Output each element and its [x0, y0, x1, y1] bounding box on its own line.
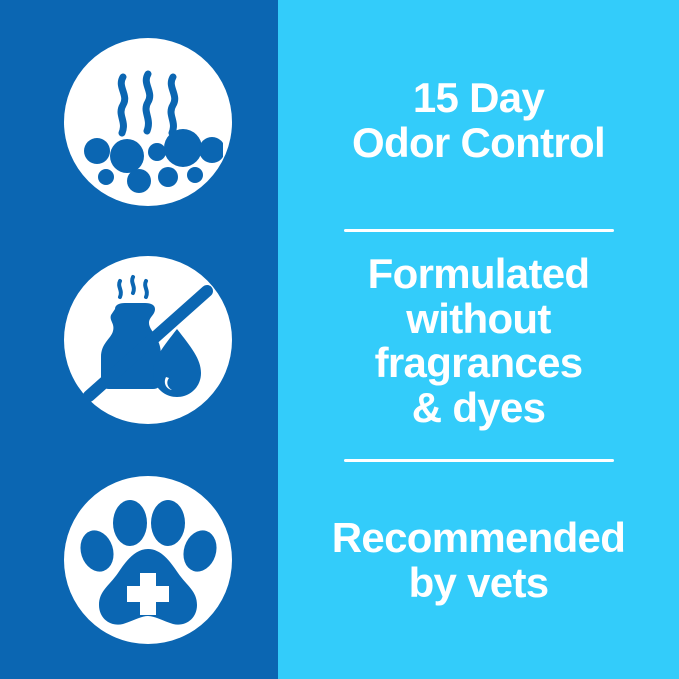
feature-line: fragrances — [300, 341, 657, 386]
feature-line: Odor Control — [300, 121, 657, 166]
paw-with-medical-cross-icon-badge — [64, 476, 232, 644]
product-feature-infographic: 15 Day Odor Control Formulated without f… — [0, 0, 679, 679]
feature-divider — [344, 459, 614, 462]
odor-waves-particles-icon — [73, 47, 223, 197]
feature-line: 15 Day — [300, 76, 657, 121]
feature-divider — [344, 229, 614, 232]
feature-odor-control: 15 Day Odor Control — [278, 76, 679, 165]
icon-panel — [0, 0, 278, 679]
feature-no-fragrances-dyes: Formulated without fragrances & dyes — [278, 252, 679, 430]
no-fragrance-no-dye-icon — [73, 265, 223, 415]
feature-line: & dyes — [300, 386, 657, 431]
feature-line: by vets — [300, 561, 657, 606]
feature-line: Recommended — [300, 516, 657, 561]
feature-line: Formulated — [300, 252, 657, 297]
feature-vet-recommended: Recommended by vets — [278, 516, 679, 605]
odor-waves-particles-icon-badge — [64, 38, 232, 206]
no-fragrance-no-dye-icon-badge — [64, 256, 232, 424]
feature-line: without — [300, 297, 657, 342]
paw-with-medical-cross-icon — [73, 485, 223, 635]
feature-text-panel: 15 Day Odor Control Formulated without f… — [278, 0, 679, 679]
